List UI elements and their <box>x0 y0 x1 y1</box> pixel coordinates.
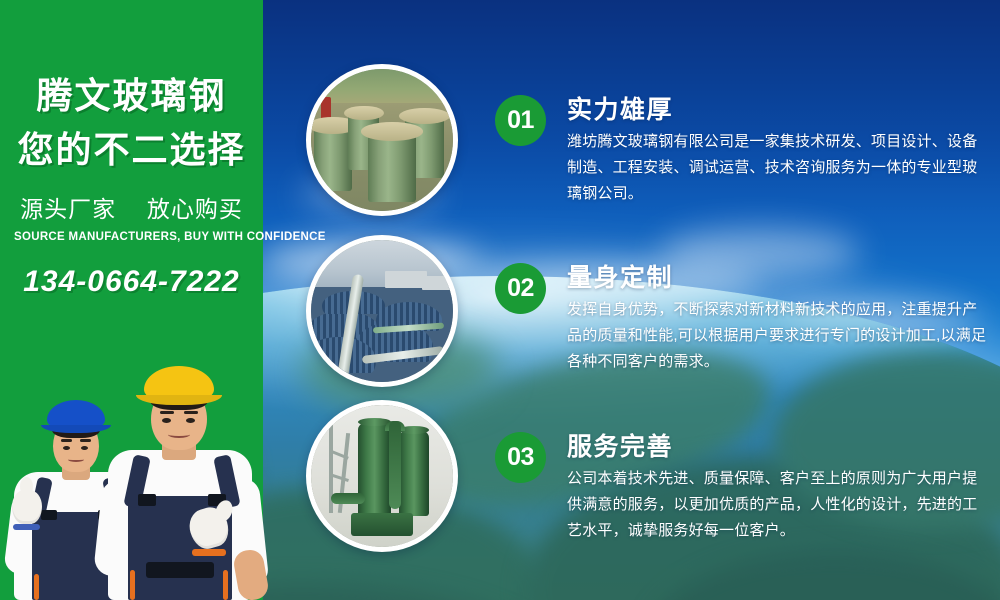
brand-headline-secondary: 您的不二选择 <box>14 132 249 168</box>
feature-title-01: 实力雄厚 <box>567 97 987 123</box>
feature-block-02: 02 量身定制 发挥自身优势，不断探索对新材料新技术的应用，注重提升产品的质量和… <box>495 263 987 375</box>
feature-description-02: 发挥自身优势，不断探索对新材料新技术的应用，注重提升产品的质量和性能,可以根据用… <box>567 297 987 375</box>
photo-frp-storage-tanks[interactable] <box>306 64 458 216</box>
feature-description-03: 公司本着技术先进、质量保障、客户至上的原则为广大用户提供满意的服务，以更加优质的… <box>567 466 987 544</box>
feature-number-badge-02: 02 <box>495 263 546 314</box>
brand-slogan-part2: 放心购买 <box>147 190 243 224</box>
brand-slogan-english: SOURCE MANUFACTURERS, BUY WITH CONFIDENC… <box>14 231 249 243</box>
feature-block-01: 01 实力雄厚 潍坊腾文玻璃钢有限公司是一家集技术研发、项目设计、设备制造、工程… <box>495 95 987 207</box>
feature-block-03: 03 服务完善 公司本着技术先进、质量保障、客户至上的原则为广大用户提供满意的服… <box>495 432 987 544</box>
hard-hat-blue-icon <box>47 400 105 432</box>
workers-photo-group <box>0 350 285 600</box>
brand-headline-primary: 腾文玻璃钢 <box>14 78 249 114</box>
feature-number-badge-01: 01 <box>495 95 546 146</box>
photo-scrubber-towers[interactable] <box>306 400 458 552</box>
brand-slogan: 源头厂家 放心购买 <box>14 190 249 224</box>
promotional-banner: 腾文玻璃钢 您的不二选择 源头厂家 放心购买 SOURCE MANUFACTUR… <box>0 0 1000 600</box>
brand-block: 腾文玻璃钢 您的不二选择 源头厂家 放心购买 SOURCE MANUFACTUR… <box>0 0 263 299</box>
feature-number-badge-03: 03 <box>495 432 546 483</box>
worker-yellow-helmet <box>100 355 260 600</box>
feature-title-02: 量身定制 <box>567 265 987 291</box>
hard-hat-yellow-icon <box>144 366 214 404</box>
photo-tank-dome-covers[interactable] <box>306 235 458 387</box>
contact-phone-number[interactable]: 134-0664-7222 <box>14 265 249 299</box>
feature-description-01: 潍坊腾文玻璃钢有限公司是一家集技术研发、项目设计、设备制造、工程安装、调试运营、… <box>567 129 987 207</box>
feature-title-03: 服务完善 <box>567 434 987 460</box>
brand-slogan-part1: 源头厂家 <box>20 190 116 224</box>
